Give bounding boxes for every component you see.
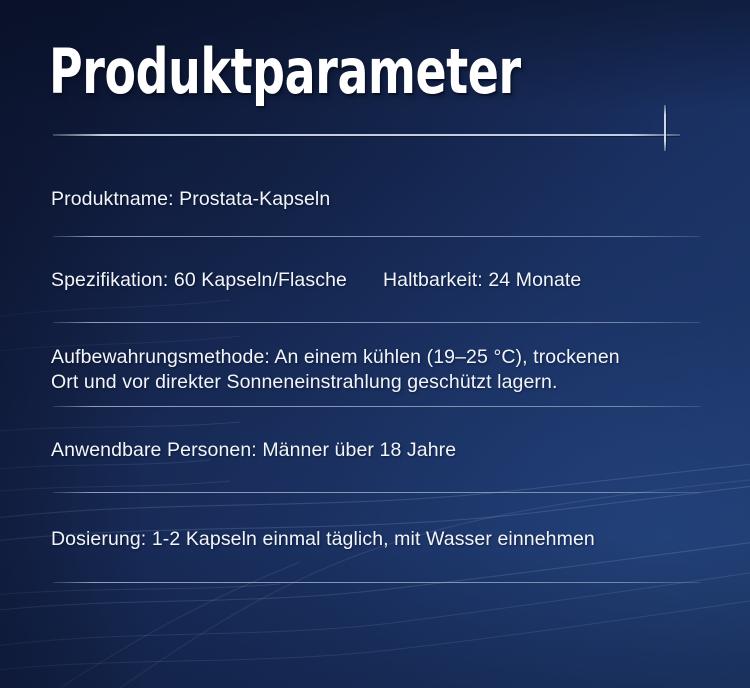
storage-text-line-1: Aufbewahrungsmethode: An einem kühlen (1… [51,345,700,370]
spec-row-specification-content: Spezifikation: 60 Kapseln/FlascheHaltbar… [0,268,750,293]
product-parameter-poster: Produktparameter Produktname: Prostata-K… [0,0,750,688]
title-rule-end-tick [664,105,666,151]
page-title: Produktparameter [49,38,521,106]
spec-row-storage: Aufbewahrungsmethode: An einem kühlen (1… [0,323,750,407]
spec-row-divider [53,582,700,583]
spec-row-target-group-text: Anwendbare Personen: Männer über 18 Jahr… [0,438,750,463]
title-underline-rule [53,134,680,136]
spec-row-product-name-text: Produktname: Prostata-Kapseln [0,187,750,212]
spec-list: Produktname: Prostata-Kapseln Spezifikat… [0,160,750,583]
storage-text-line-2: Ort und vor direkter Sonneneinstrahlung … [51,370,700,395]
spec-row-target-group: Anwendbare Personen: Männer über 18 Jahr… [0,407,750,493]
shelf-life-label-value: Haltbarkeit: 24 Monate [383,269,581,291]
spec-row-dosage-text: Dosierung: 1-2 Kapseln einmal täglich, m… [0,527,750,552]
spec-row-storage-content: Aufbewahrungsmethode: An einem kühlen (1… [0,345,750,395]
spec-row-specification: Spezifikation: 60 Kapseln/FlascheHaltbar… [0,237,750,323]
poster-content: Produktparameter Produktname: Prostata-K… [0,0,750,688]
spec-row-dosage: Dosierung: 1-2 Kapseln einmal täglich, m… [0,493,750,583]
specification-label-value: Spezifikation: 60 Kapseln/Flasche [51,269,347,291]
spec-row-product-name: Produktname: Prostata-Kapseln [0,160,750,237]
